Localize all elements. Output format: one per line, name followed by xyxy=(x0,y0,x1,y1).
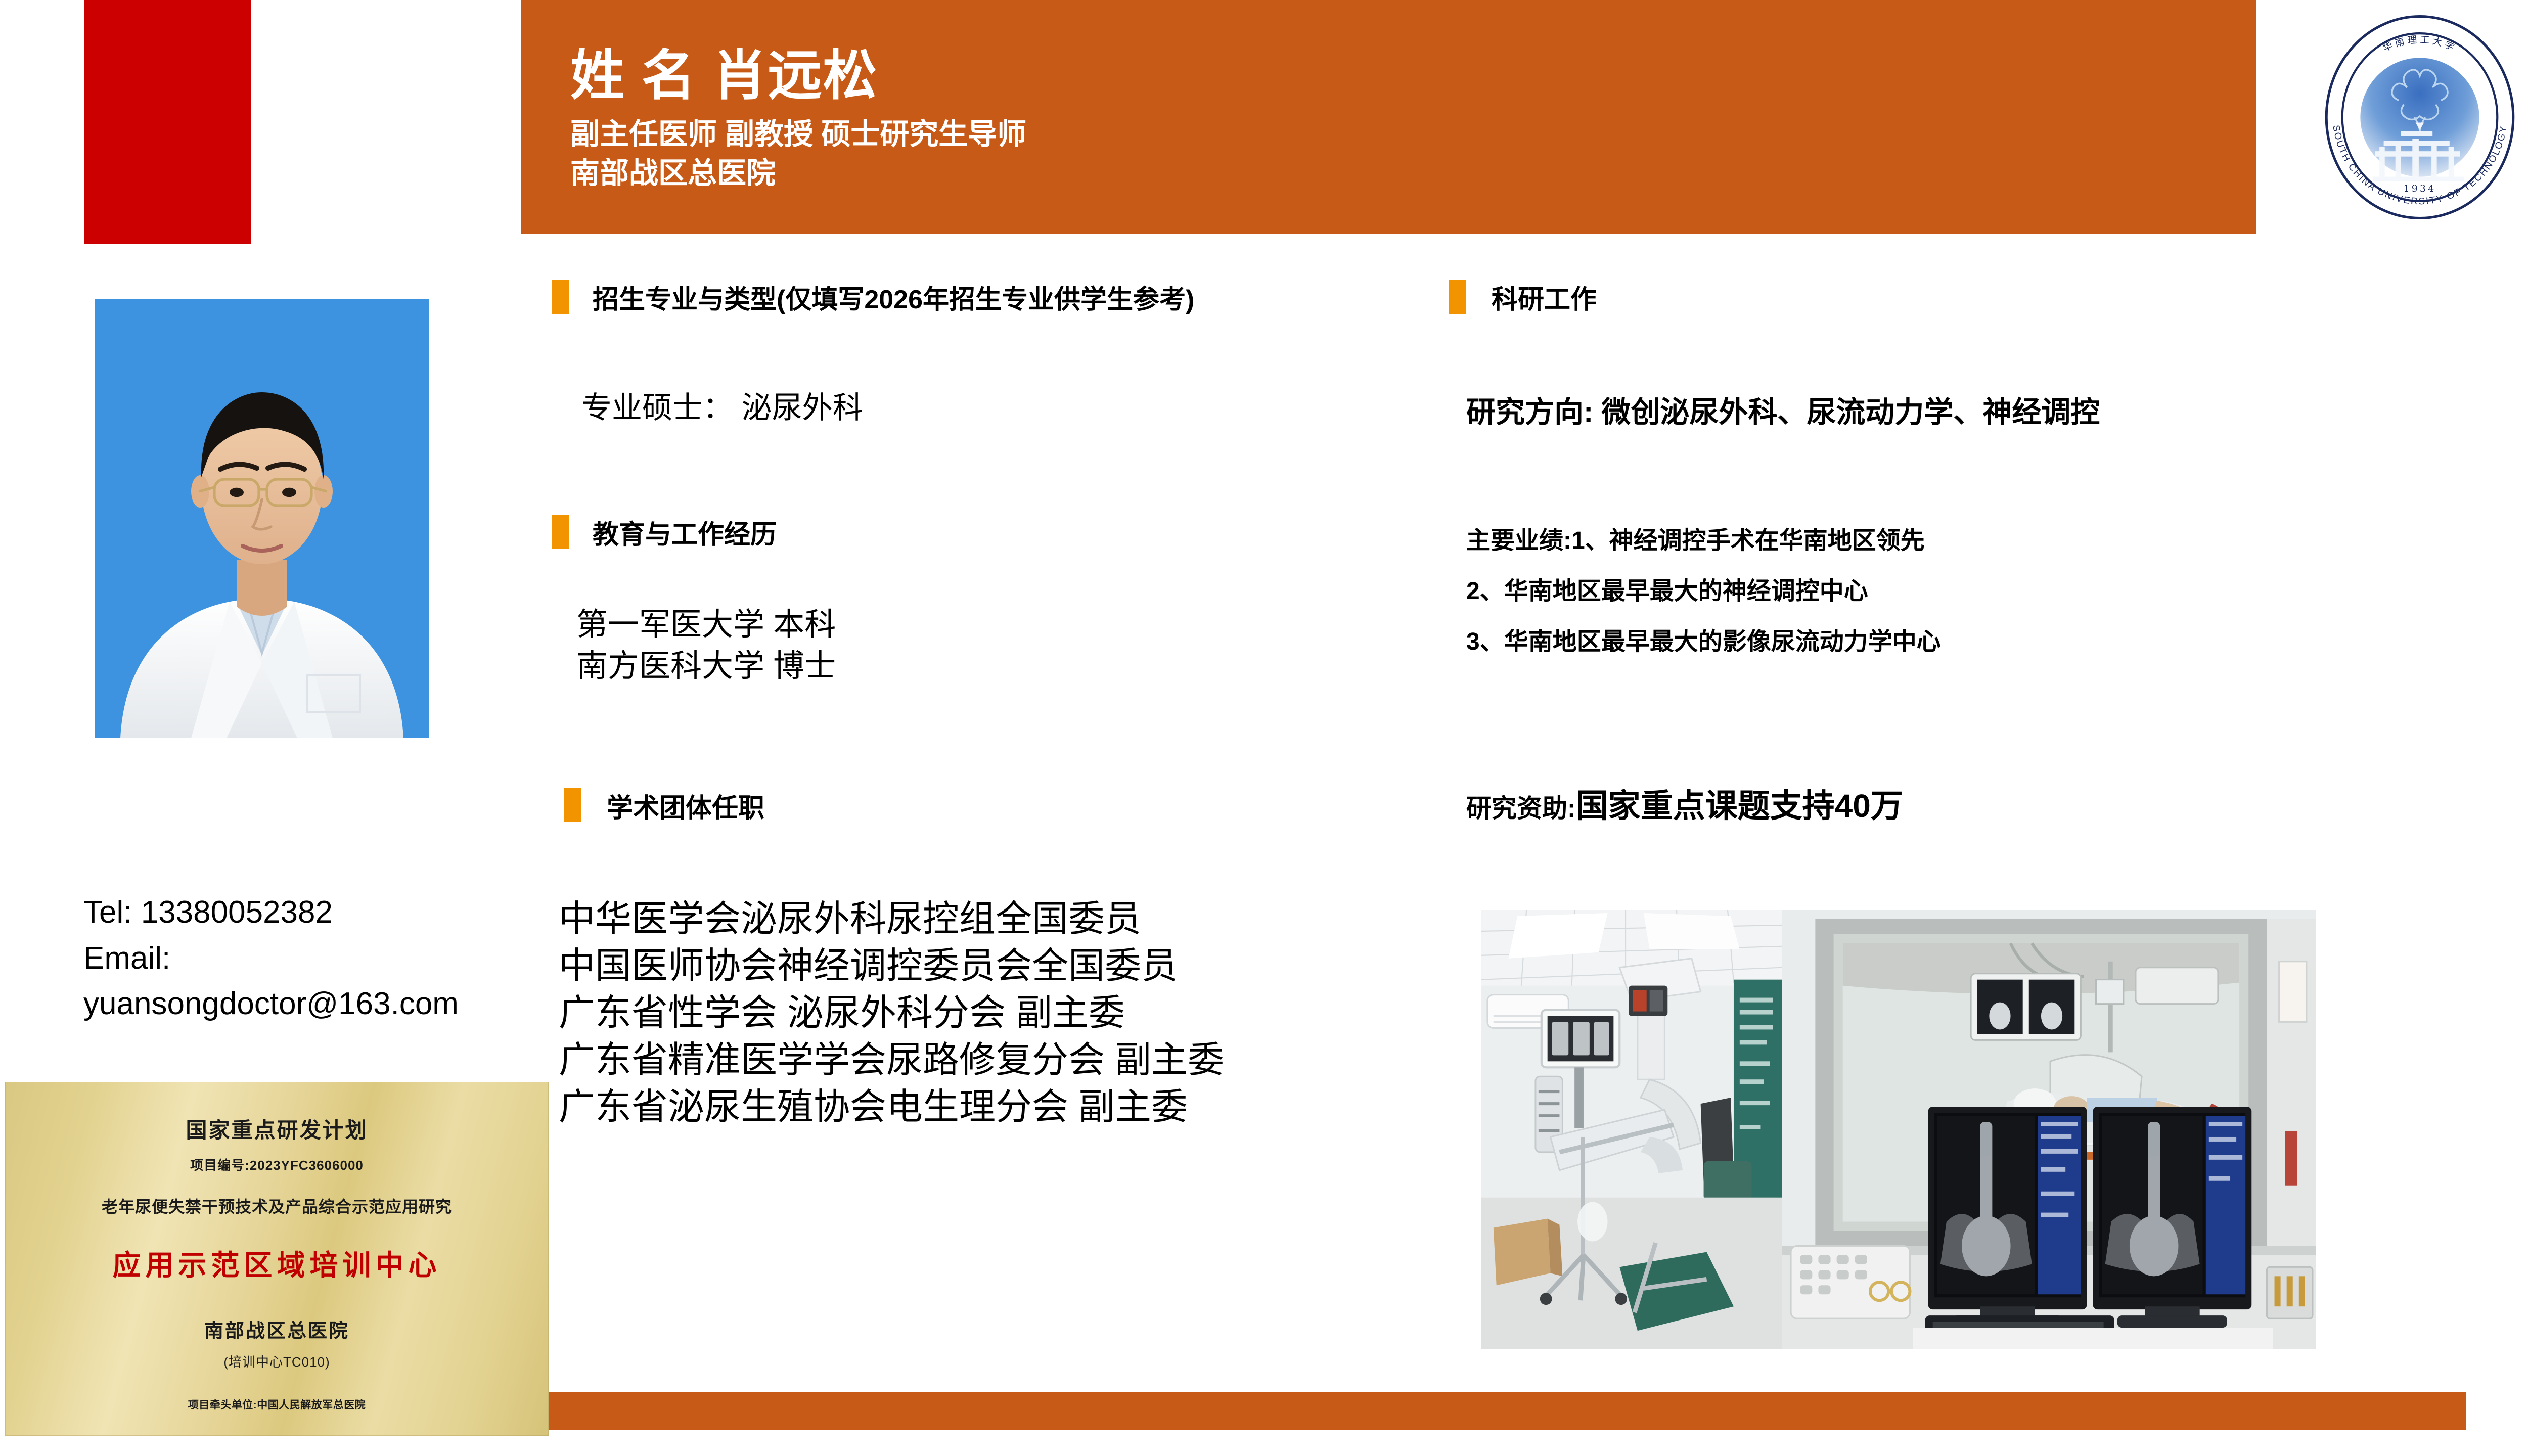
photo-pane-left xyxy=(1481,910,1782,1349)
page-title: 姓 名 肖远松 xyxy=(570,31,878,110)
contact-block: Tel: 13380052382 Email: yuansongdoctor@1… xyxy=(83,890,503,1027)
university-seal-logo: 华南理工大学 SOUTH CHINA UNIVERSITY OF TECHNOL… xyxy=(2314,11,2526,223)
research-achievements-list: 主要业绩:1、神经调控手术在华南地区领先 2、华南地区最早最大的神经调控中心 3… xyxy=(1466,529,1941,654)
plaque-institution: 南部战区总医院 xyxy=(5,1315,549,1343)
section-title-education: 教育与工作经历 xyxy=(593,518,777,552)
research-achievement-item: 主要业绩:1、神经调控手术在华南地区领先 xyxy=(1466,529,1941,553)
research-funding-label: 研究资助: xyxy=(1466,794,1576,823)
education-item: 南方医科大学 博士 xyxy=(576,646,836,687)
section-marker-research xyxy=(1449,280,1466,314)
research-funding: 研究资助:国家重点课题支持40万 xyxy=(1466,785,1903,827)
plaque-program-name: 国家重点研发计划 xyxy=(5,1113,549,1144)
award-plaque: 国家重点研发计划 项目编号:2023YFC3606000 老年尿便失禁干预技术及… xyxy=(5,1082,549,1436)
footer-bar xyxy=(549,1392,2466,1430)
plaque-project-title: 老年尿便失禁干预技术及产品综合示范应用研究 xyxy=(5,1194,549,1217)
section-title-research: 科研工作 xyxy=(1492,283,1597,317)
education-item: 第一军医大学 本科 xyxy=(576,604,836,646)
header-subtitle-line-1: 副主任医师 副教授 硕士研究生导师 xyxy=(570,115,1026,154)
contact-email-value: yuansongdoctor@163.com xyxy=(83,981,503,1027)
academic-position-item: 中国医师协会神经调控委员会全国委员 xyxy=(559,943,1224,990)
academic-position-item: 广东省精准医学学会尿路修复分会 副主委 xyxy=(559,1037,1224,1084)
section-marker-academic-positions xyxy=(564,788,581,822)
research-achievement-item: 3、华南地区最早最大的影像尿流动力学中心 xyxy=(1466,630,1941,654)
contact-tel: Tel: 13380052382 xyxy=(83,890,503,936)
plaque-center-name: 应用示范区域培训中心 xyxy=(5,1243,549,1284)
plaque-center-code: (培训中心TC010) xyxy=(5,1352,549,1371)
academic-position-item: 广东省泌尿生殖协会电生理分会 副主委 xyxy=(559,1084,1224,1131)
operating-room-photo xyxy=(1481,910,2316,1349)
section-marker-education xyxy=(552,515,569,549)
research-achievement-item: 2、华南地区最早最大的神经调控中心 xyxy=(1466,579,1941,604)
education-list: 第一军医大学 本科 南方医科大学 博士 xyxy=(576,604,836,687)
slide-root: 姓 名 肖远松 副主任医师 副教授 硕士研究生导师 南部战区总医院 xyxy=(0,0,2528,1456)
red-accent-block xyxy=(84,0,251,244)
plaque-project-number: 项目编号:2023YFC3606000 xyxy=(5,1155,549,1174)
section-title-academic-positions: 学术团体任职 xyxy=(607,792,764,826)
plaque-lead-unit: 项目牵头单位:中国人民解放军总医院 xyxy=(5,1397,549,1412)
academic-position-item: 中华医学会泌尿外科尿控组全国委员 xyxy=(559,896,1224,943)
research-direction: 研究方向: 微创泌尿外科、尿流动力学、神经调控 xyxy=(1466,393,2100,431)
section-title-admission: 招生专业与类型(仅填写2026年招生专业供学生参考) xyxy=(593,283,1316,317)
contact-email-label: Email: xyxy=(83,936,503,982)
academic-position-item: 广东省性学会 泌尿外科分会 副主委 xyxy=(559,990,1224,1037)
section-marker-admission xyxy=(552,280,569,314)
header-subtitle-line-2: 南部战区总医院 xyxy=(570,154,1026,193)
academic-positions-list: 中华医学会泌尿外科尿控组全国委员 中国医师协会神经调控委员会全国委员 广东省性学… xyxy=(559,896,1224,1130)
research-funding-value: 国家重点课题支持40万 xyxy=(1576,788,1903,824)
doctor-portrait-photo xyxy=(95,299,429,738)
svg-text:1934: 1934 xyxy=(2404,183,2436,194)
photo-pane-right xyxy=(1782,910,2316,1349)
header-subtitle: 副主任医师 副教授 硕士研究生导师 南部战区总医院 xyxy=(570,115,1026,193)
admission-degree-line: 专业硕士： 泌尿外科 xyxy=(581,388,863,428)
